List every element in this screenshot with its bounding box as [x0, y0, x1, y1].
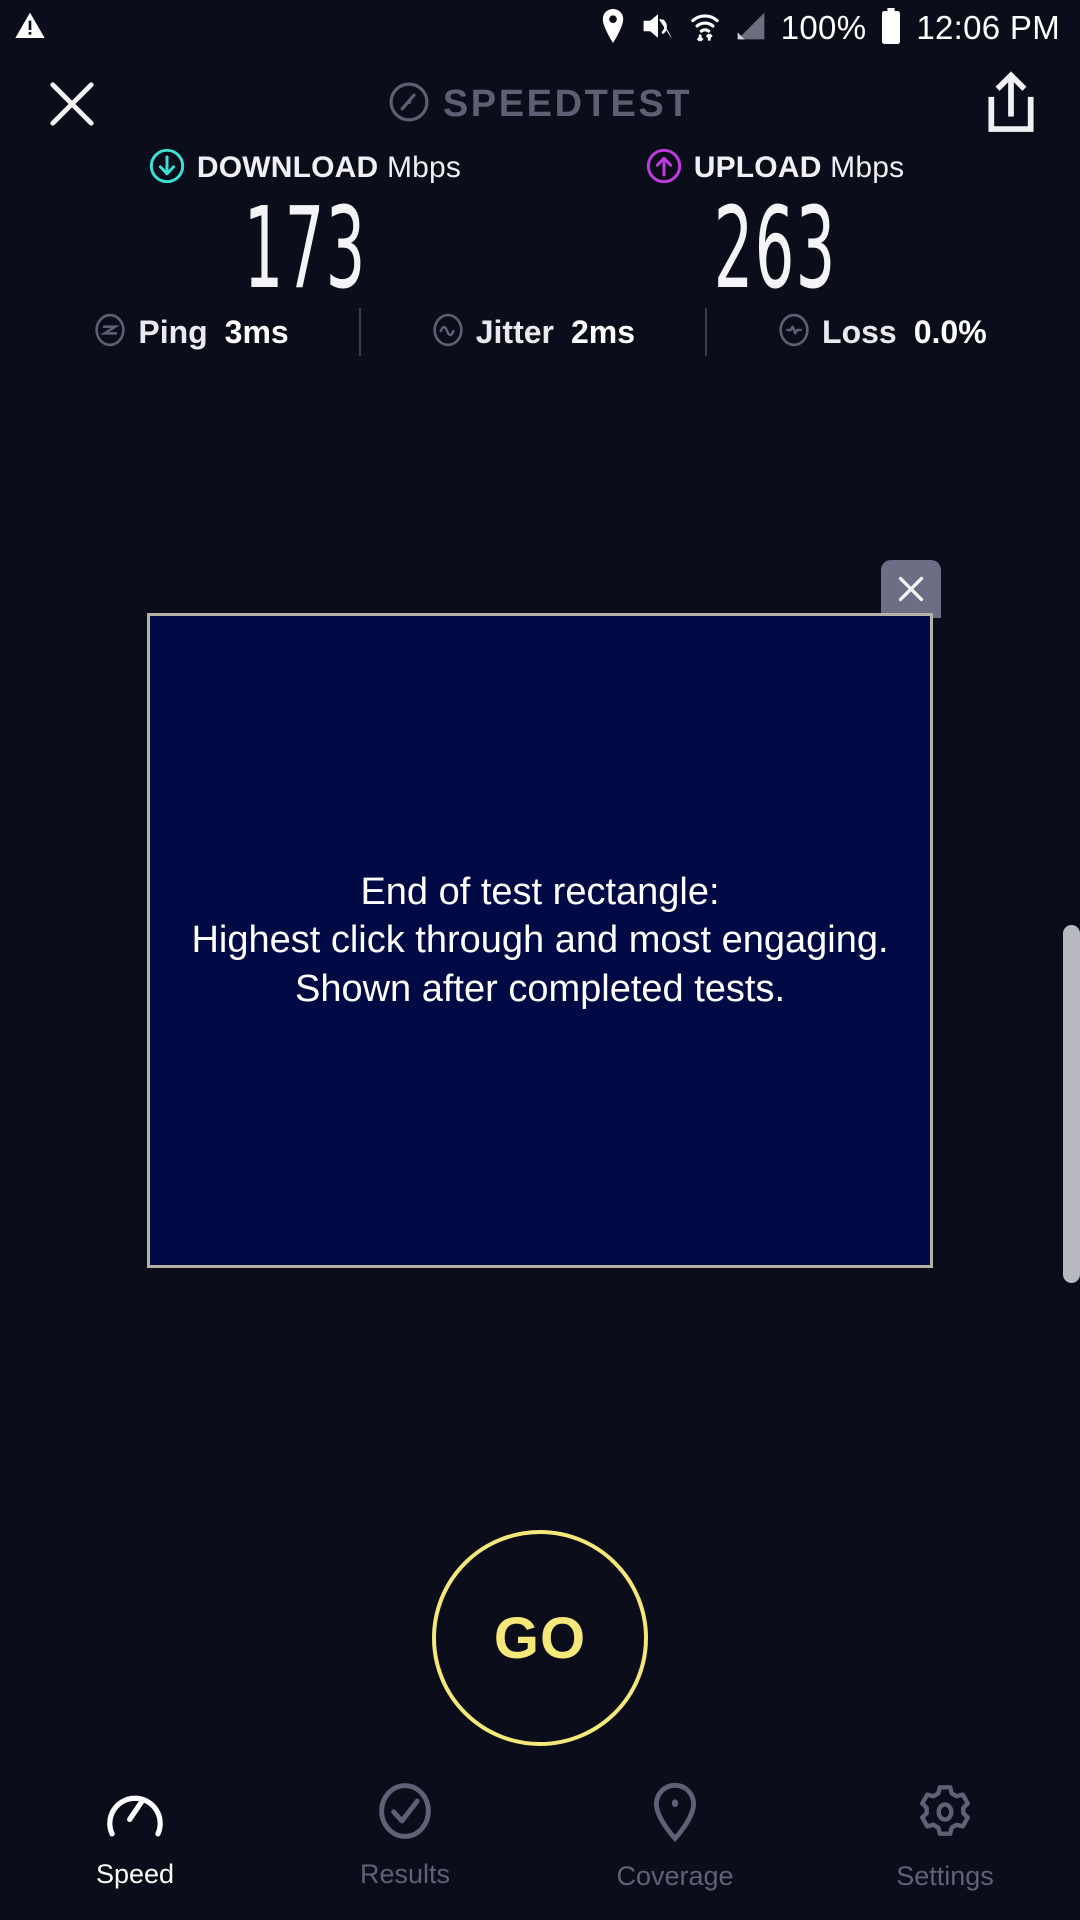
loss-value: 0.0% — [914, 314, 987, 351]
app-title: SPEEDTEST — [0, 72, 1080, 136]
results-panel: DOWNLOAD Mbps 173 UPLOAD Mbps 263 — [0, 146, 1080, 306]
status-bar: 100% 12:06 PM — [0, 0, 1080, 56]
gear-icon — [915, 1782, 975, 1847]
speedometer-icon — [388, 81, 430, 128]
upload-metric: UPLOAD Mbps 263 — [540, 146, 1010, 306]
nav-label-settings: Settings — [896, 1861, 994, 1892]
upload-metric-label: UPLOAD Mbps — [694, 151, 905, 185]
ping-icon — [93, 313, 127, 352]
ping-stat: Ping 3ms — [93, 301, 288, 363]
check-circle-icon — [376, 1782, 434, 1845]
go-button-label: GO — [494, 1605, 586, 1672]
download-metric-label: DOWNLOAD Mbps — [197, 151, 461, 185]
ad-text: End of test rectangle: Highest click thr… — [191, 868, 888, 1014]
jitter-icon — [431, 313, 465, 352]
download-speed-value: 173 — [244, 192, 367, 306]
cell-signal-icon — [735, 11, 767, 46]
location-pin-icon — [599, 9, 627, 48]
loss-label: Loss — [822, 314, 897, 351]
status-bar-left — [0, 10, 46, 47]
bottom-navigation: Speed Results Coverage — [0, 1770, 1080, 1920]
app-header: SPEEDTEST — [0, 58, 1080, 148]
upload-arrow-icon — [646, 148, 682, 189]
battery-percent-label: 100% — [781, 9, 867, 47]
nav-item-speed[interactable]: Speed — [0, 1782, 270, 1890]
nav-label-coverage: Coverage — [616, 1861, 733, 1892]
download-metric: DOWNLOAD Mbps 173 — [70, 146, 540, 306]
substats-row: Ping 3ms Jitter 2ms — [0, 300, 1080, 364]
jitter-label: Jitter — [476, 314, 554, 351]
clock-label: 12:06 PM — [916, 9, 1060, 47]
page-scrollbar[interactable] — [1063, 925, 1080, 1283]
nav-item-results[interactable]: Results — [270, 1782, 540, 1890]
substat-divider-1 — [359, 308, 361, 356]
warning-triangle-icon — [14, 10, 46, 47]
mute-icon — [641, 10, 675, 47]
status-bar-right: 100% 12:06 PM — [599, 8, 1080, 49]
nav-item-settings[interactable]: Settings — [810, 1782, 1080, 1892]
ad-close-button[interactable] — [881, 560, 941, 618]
loss-icon — [777, 313, 811, 352]
advertisement-banner[interactable]: End of test rectangle: Highest click thr… — [147, 613, 933, 1268]
nav-item-coverage[interactable]: Coverage — [540, 1782, 810, 1892]
battery-full-icon — [880, 8, 902, 49]
loss-stat: Loss 0.0% — [777, 301, 987, 363]
app-title-label: SPEEDTEST — [443, 83, 692, 126]
substat-divider-2 — [705, 308, 707, 356]
go-button[interactable]: GO — [432, 1530, 648, 1746]
speedometer-icon — [104, 1782, 166, 1845]
speedtest-app-screen: 100% 12:06 PM SP — [0, 0, 1080, 1920]
speed-metrics-row: DOWNLOAD Mbps 173 UPLOAD Mbps 263 — [0, 146, 1080, 306]
ping-value: 3ms — [225, 314, 289, 351]
nav-label-speed: Speed — [96, 1859, 174, 1890]
share-button[interactable] — [980, 70, 1042, 138]
jitter-value: 2ms — [571, 314, 635, 351]
download-arrow-icon — [149, 148, 185, 189]
ping-label: Ping — [138, 314, 207, 351]
wifi-icon — [689, 9, 721, 48]
jitter-stat: Jitter 2ms — [431, 301, 635, 363]
location-pin-icon — [649, 1782, 701, 1847]
nav-label-results: Results — [360, 1859, 450, 1890]
upload-speed-value: 263 — [714, 192, 837, 306]
